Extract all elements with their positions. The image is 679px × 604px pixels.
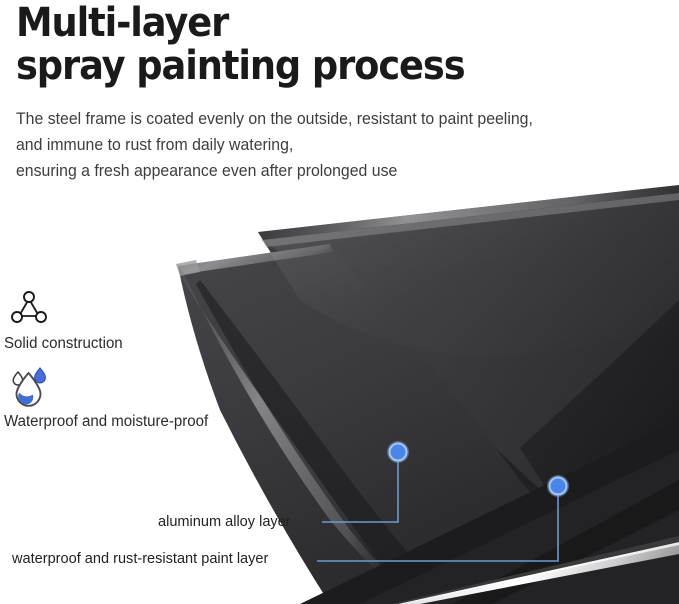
page-subtitle: The steel frame is coated evenly on the … <box>16 106 666 184</box>
water-droplet-icon <box>10 366 304 408</box>
product-feature-banner: Multi-layer spray painting process The s… <box>0 0 679 604</box>
triangle-nodes-icon <box>10 288 304 330</box>
subtitle-line-3: ensuring a fresh appearance even after p… <box>16 158 640 184</box>
page-title: Multi-layer spray painting process <box>16 2 656 88</box>
callout-label-aluminum: aluminum alloy layer <box>158 513 291 530</box>
feature-label-waterproof: Waterproof and moisture-proof <box>4 412 295 432</box>
feature-solid-construction: Solid construction <box>4 288 304 354</box>
headline-line-1: Multi-layer <box>16 2 605 45</box>
feature-label-solid-construction: Solid construction <box>4 334 295 354</box>
subtitle-line-1: The steel frame is coated evenly on the … <box>16 106 640 132</box>
callout-label-paint: waterproof and rust-resistant paint laye… <box>12 550 268 567</box>
subtitle-line-2: and immune to rust from daily watering, <box>16 132 640 158</box>
headline-line-2: spray painting process <box>16 45 605 88</box>
feature-waterproof: Waterproof and moisture-proof <box>4 366 304 432</box>
